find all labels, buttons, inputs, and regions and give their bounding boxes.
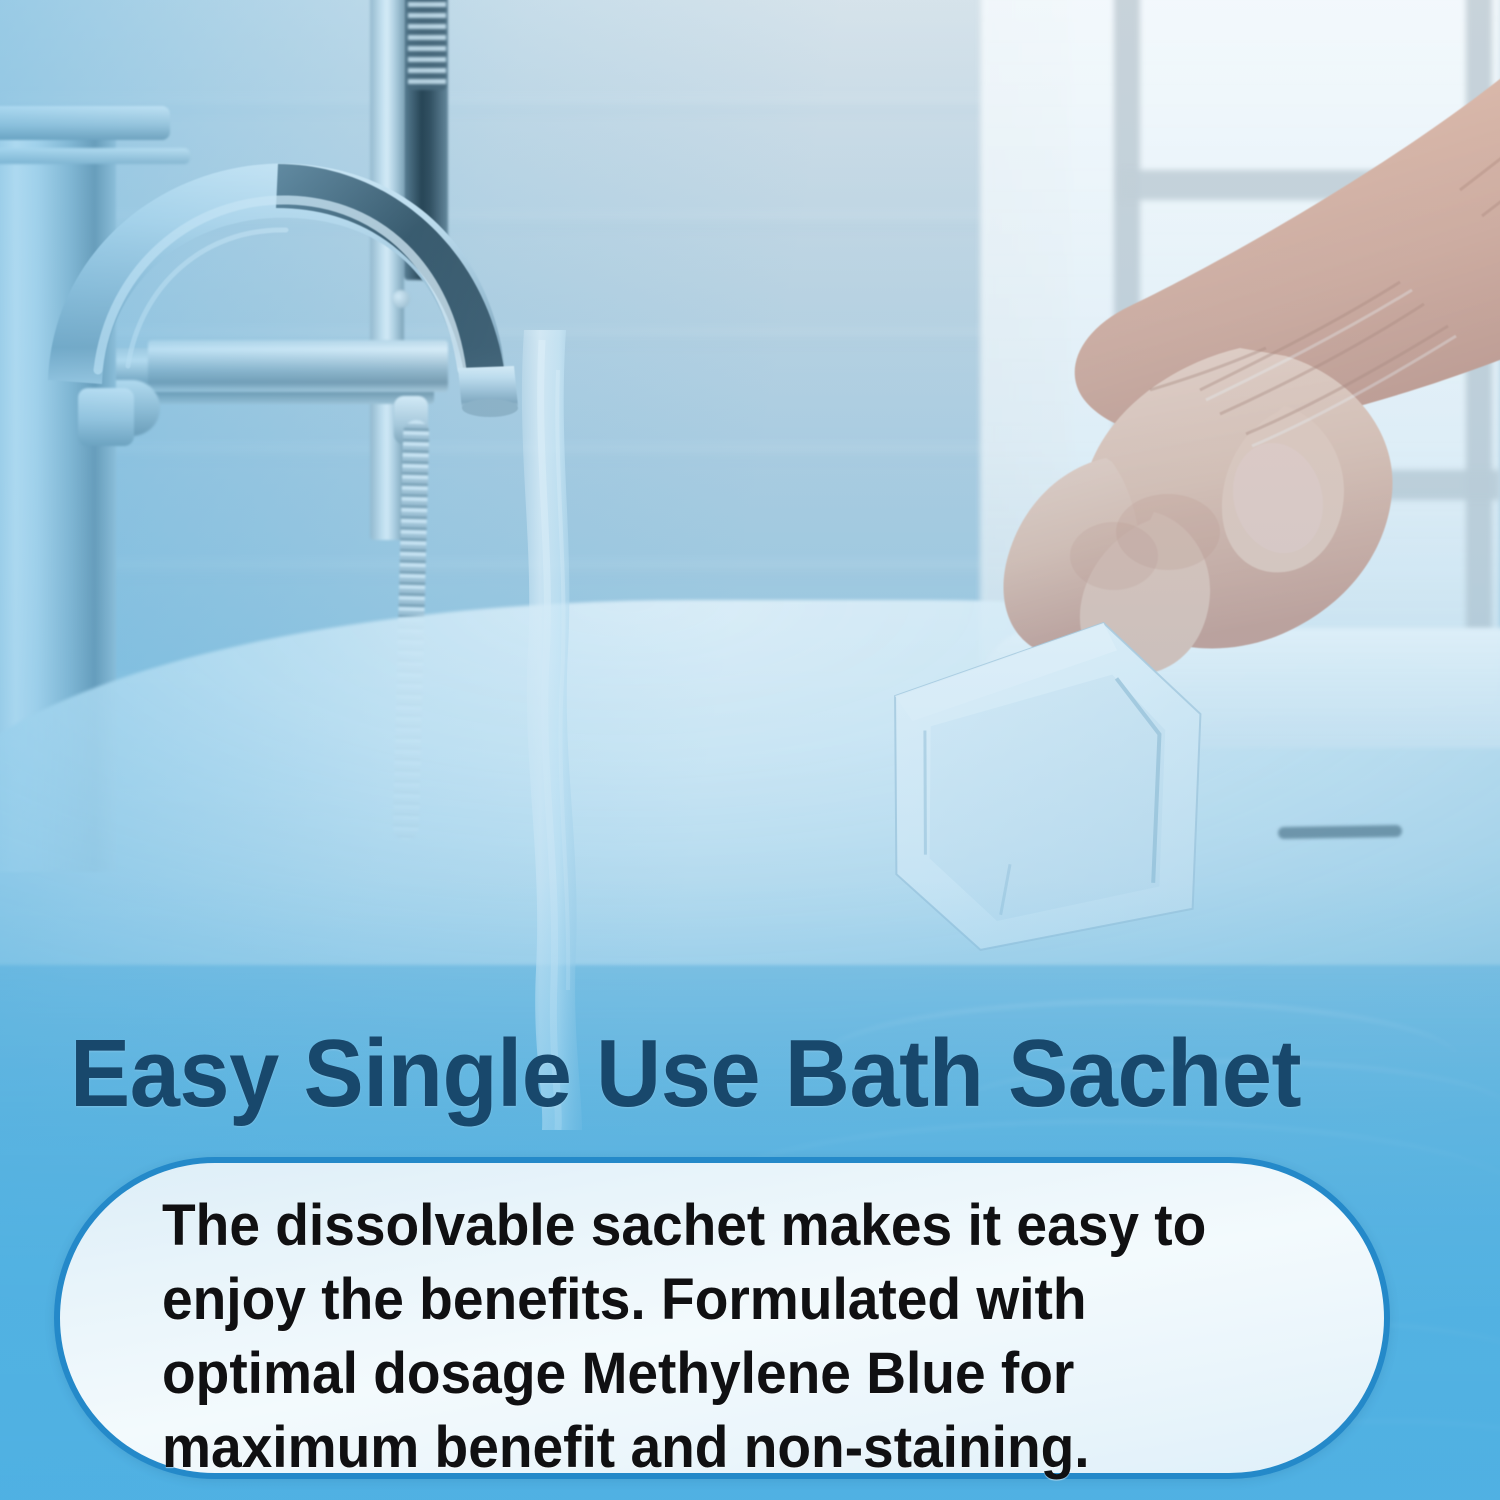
product-feature-image: Easy Single Use Bath Sachet The dissolva… bbox=[0, 0, 1500, 1500]
bath-sachet-packet bbox=[877, 608, 1224, 965]
bathtub-overflow-slot bbox=[1278, 825, 1402, 839]
faucet-icon bbox=[28, 120, 528, 420]
knurled-grip bbox=[408, 0, 446, 90]
description-text: The dissolvable sachet makes it easy to … bbox=[162, 1189, 1245, 1485]
description-callout-box: The dissolvable sachet makes it easy to … bbox=[54, 1157, 1390, 1479]
page-title: Easy Single Use Bath Sachet bbox=[70, 1026, 1367, 1122]
water-stream-icon bbox=[498, 330, 608, 1130]
